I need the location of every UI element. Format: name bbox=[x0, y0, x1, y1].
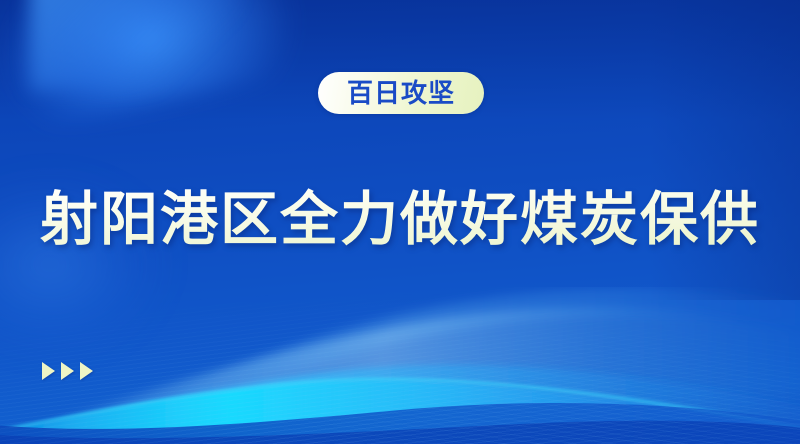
triangle-right-icon bbox=[61, 362, 74, 380]
banner-headline: 射阳港区全力做好煤炭保供 bbox=[0, 186, 800, 254]
arrow-decoration-group bbox=[42, 362, 93, 380]
campaign-badge-label: 百日攻坚 bbox=[347, 80, 455, 107]
banner-content: 百日攻坚 射阳港区全力做好煤炭保供 bbox=[0, 0, 800, 444]
promo-banner: 百日攻坚 射阳港区全力做好煤炭保供 bbox=[0, 0, 800, 444]
triangle-right-icon bbox=[42, 362, 55, 380]
triangle-right-icon bbox=[80, 362, 93, 380]
campaign-badge: 百日攻坚 bbox=[318, 72, 484, 114]
